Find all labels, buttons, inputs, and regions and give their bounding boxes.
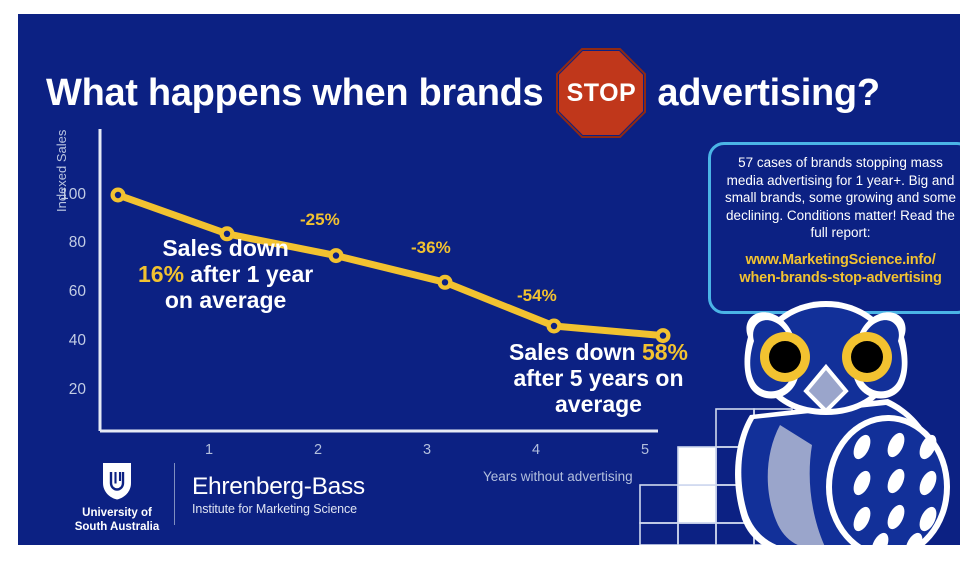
x-tick-3: 3 [407, 442, 447, 458]
university-name: University of South Australia [74, 506, 160, 535]
x-tick-4: 4 [516, 442, 556, 458]
logo-divider [174, 463, 175, 525]
university-name-line1: University of [74, 506, 160, 520]
navy-panel: What happens when brands STOP advertisin… [18, 14, 960, 545]
data-point-center-year-3 [442, 279, 448, 285]
y-tick-40: 40 [40, 332, 86, 350]
callout-one-year-line1: Sales down [138, 236, 313, 262]
x-tick-2: 2 [298, 442, 338, 458]
y-tick-100: 100 [40, 186, 86, 204]
callout-one-year-pct: 16% [138, 261, 184, 287]
point-label-year2: -25% [300, 210, 340, 230]
y-tick-80: 80 [40, 234, 86, 252]
y-tick-20: 20 [40, 381, 86, 399]
callout-one-year-line2: 16% after 1 year [138, 262, 313, 288]
owl-feathers [850, 430, 940, 545]
university-name-line2: South Australia [74, 520, 160, 534]
point-label-year3: -36% [411, 238, 451, 258]
owl-and-grid-svg [630, 295, 960, 545]
shield-icon [101, 461, 133, 501]
callout-five-year-line1-rest: Sales down [509, 339, 642, 365]
owl-artwork [630, 295, 960, 545]
footer-logos: University of South Australia Ehrenberg-… [74, 461, 404, 541]
institute-name: Ehrenberg-Bass [192, 473, 365, 501]
stop-sign-label: STOP [567, 79, 637, 108]
data-point-center-year-2 [333, 252, 339, 258]
institute-logo: Ehrenberg-Bass Institute for Marketing S… [192, 473, 365, 516]
callout-one-year-line3: on average [138, 288, 313, 314]
data-point-center-year-0 [115, 192, 121, 198]
institute-subtitle: Institute for Marketing Science [192, 502, 365, 516]
owl-icon [735, 301, 950, 545]
data-point-center-year-4 [551, 323, 557, 329]
x-tick-1: 1 [189, 442, 229, 458]
callout-one-year-line2-rest: after 1 year [184, 261, 313, 287]
university-logo: University of South Australia [74, 461, 160, 535]
callout-one-year: Sales down 16% after 1 year on average [138, 236, 313, 313]
x-axis-title: Years without advertising [483, 469, 633, 484]
y-tick-60: 60 [40, 283, 86, 301]
infographic-canvas: What happens when brands STOP advertisin… [0, 0, 980, 567]
point-label-year4: -54% [517, 286, 557, 306]
